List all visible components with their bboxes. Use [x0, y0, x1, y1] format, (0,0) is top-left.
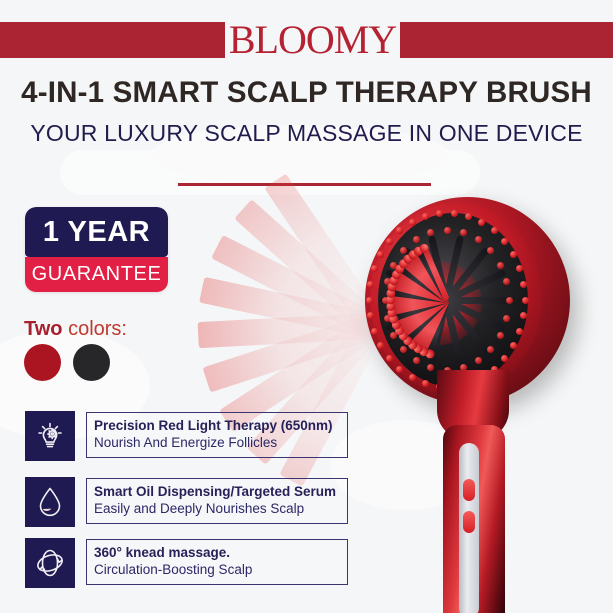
brush-bristle [389, 297, 447, 309]
brush-bead [478, 219, 485, 226]
brush-bead [377, 342, 384, 349]
brush-ridge [428, 235, 450, 301]
brush-bristle [390, 283, 448, 303]
bristle-tip [386, 301, 396, 311]
bristle-tip [387, 281, 398, 292]
brush-bead [465, 213, 472, 220]
brush-bead [520, 281, 527, 288]
bristle-tip [386, 288, 396, 298]
bristle-tip [397, 329, 410, 342]
brush-bristle [391, 297, 448, 322]
handle-button-upper[interactable] [463, 479, 475, 501]
brush-bead [503, 315, 510, 322]
brush-bristle [409, 298, 449, 348]
brush-ridge [443, 300, 465, 366]
brush-bead [522, 297, 529, 304]
brush-ridge [380, 297, 446, 304]
brush-bristle [390, 297, 448, 316]
brush-bead [506, 297, 513, 304]
brush-bead [386, 238, 393, 245]
brush-bristle [389, 296, 447, 303]
feature-row: Precision Red Light Therapy (650nm) Nour… [25, 411, 350, 463]
brush-bead [460, 229, 467, 236]
brush-ridge [443, 298, 490, 354]
brush-bead [427, 229, 434, 236]
brush-head-outer-rim [365, 197, 570, 404]
brush-bead [478, 374, 485, 381]
bristle-tip [386, 295, 395, 304]
brush-bead [390, 262, 397, 269]
brush-bead [497, 332, 504, 339]
brush-bead [436, 210, 443, 217]
brush-bristle [421, 246, 450, 302]
bristle-tip [407, 248, 420, 261]
colors-label-strong: Two [24, 318, 63, 340]
handle-control-panel [459, 443, 479, 613]
brush-bristle [393, 297, 448, 328]
feature-description: Circulation-Boosting Scalp [94, 561, 347, 579]
bristle-tip [424, 348, 435, 359]
brush-bead [465, 380, 472, 387]
bristle-tip [419, 242, 431, 254]
brush-ridge [443, 235, 465, 301]
brush-bead [451, 383, 458, 390]
feature-text-box: Smart Oil Dispensing/Targeted Serum Easi… [86, 478, 348, 524]
oil-droplet-icon [25, 477, 75, 527]
brush-ridge [402, 247, 449, 303]
feature-text-box: Precision Red Light Therapy (650nm) Nour… [86, 412, 348, 458]
brush-ridge [446, 297, 512, 304]
product-neck [437, 370, 509, 440]
brush-bead [491, 366, 498, 373]
brush-bristle [401, 260, 449, 302]
colors-label: Two colors: [24, 318, 127, 341]
brush-bead [520, 312, 527, 319]
brush-bead [497, 262, 504, 269]
brush-bead [384, 278, 391, 285]
brush-bristle [405, 256, 449, 302]
brush-bead [390, 332, 397, 339]
page-subtitle: YOUR LUXURY SCALP MASSAGE IN ONE DEVICE [0, 120, 613, 147]
color-swatches [24, 344, 110, 381]
brush-bristle [414, 298, 449, 351]
handle-button-lower[interactable] [463, 511, 475, 533]
brush-bristle [392, 277, 448, 303]
brush-bead [444, 227, 451, 234]
brush-bead [503, 278, 510, 285]
feature-description: Easily and Deeply Nourishes Scalp [94, 500, 347, 518]
bristle-tip [413, 245, 425, 257]
brush-bead [516, 328, 523, 335]
product-infographic: BLOOMY 4-IN-1 SMART SCALP THERAPY BRUSH … [0, 0, 613, 613]
brush-ridge [385, 297, 448, 332]
page-title: 4-IN-1 SMART SCALP THERAPY BRUSH [0, 76, 613, 110]
brush-bead [501, 355, 508, 362]
brush-bead [487, 247, 494, 254]
brush-bead [510, 342, 517, 349]
guarantee-badge-years: 1 YEAR [25, 207, 168, 257]
brush-bristle [400, 298, 449, 339]
bristle-tip [390, 319, 402, 331]
brush-bead [460, 364, 467, 371]
bristle-tip [388, 275, 400, 287]
brush-head-inner-rim [370, 203, 542, 395]
bristle-tip [386, 307, 397, 318]
brush-bead [382, 297, 389, 304]
guarantee-badge-label: GUARANTEE [25, 257, 168, 292]
bristle-tip [393, 324, 405, 336]
feature-title: Precision Red Light Therapy (650nm) [94, 417, 347, 434]
brush-bead [386, 355, 393, 362]
feature-row: Smart Oil Dispensing/Targeted Serum Easi… [25, 477, 350, 529]
bristle-tip [394, 262, 406, 274]
brush-bristle [394, 271, 448, 303]
red-light-ray [198, 313, 374, 348]
feature-row: 360° knead massage. Circulation-Boosting… [25, 538, 350, 590]
brush-head-face [378, 213, 528, 387]
brush-bead [371, 265, 378, 272]
brush-bead [366, 297, 373, 304]
feature-title: Smart Oil Dispensing/Targeted Serum [94, 483, 347, 500]
brush-bead [436, 383, 443, 390]
brush-ridge [443, 247, 490, 303]
brush-bristle [404, 298, 449, 344]
red-light-ray [211, 235, 379, 338]
color-swatch-black[interactable] [73, 344, 110, 381]
feature-text-box: 360° knead massage. Circulation-Boosting… [86, 539, 348, 585]
background-blob [60, 150, 480, 195]
brush-ridge [444, 297, 507, 332]
brush-bead [367, 312, 374, 319]
brush-bead [516, 265, 523, 272]
bristle-tip [418, 345, 430, 357]
brush-bead [377, 251, 384, 258]
brush-bead [487, 346, 494, 353]
brush-bead [451, 210, 458, 217]
brush-bead [409, 219, 416, 226]
brush-bead [422, 380, 429, 387]
brush-bead [427, 364, 434, 371]
brush-bristle [389, 290, 447, 303]
brush-bead [413, 357, 420, 364]
bristle-tip [391, 268, 403, 280]
brush-ridge [402, 298, 449, 354]
bristle-tip [406, 338, 419, 351]
brush-bead [409, 374, 416, 381]
feature-description: Nourish And Energize Follicles [94, 434, 347, 452]
brush-bristle [397, 265, 449, 302]
brush-bristle [410, 252, 449, 302]
brush-bead [400, 346, 407, 353]
rotation-360-icon [25, 538, 75, 588]
brush-ridge [444, 269, 507, 304]
brush-bristle [426, 299, 450, 356]
brush-bristle [420, 299, 450, 354]
header-band: BLOOMY [0, 22, 613, 58]
brush-bead [396, 366, 403, 373]
guarantee-badge: 1 YEAR GUARANTEE [25, 207, 168, 292]
color-swatch-red[interactable] [24, 344, 61, 381]
brush-bead [400, 247, 407, 254]
colors-label-rest: colors: [63, 318, 127, 340]
bristle-tip [412, 342, 424, 354]
bristle-tip [398, 257, 411, 270]
bristle-tip [402, 252, 415, 265]
header-bar-right [400, 22, 613, 58]
bristle-tip [401, 334, 414, 347]
red-light-ray [199, 277, 376, 339]
red-light-glow [396, 261, 482, 345]
brand-logo: BLOOMY [225, 19, 400, 61]
brush-bristle [396, 297, 448, 333]
brush-bead [444, 367, 451, 374]
brush-ridge [385, 269, 448, 304]
header-bar-left [0, 22, 225, 58]
product-handle [443, 425, 505, 613]
brush-bristle [415, 248, 449, 301]
title-divider [178, 183, 431, 186]
lightbulb-gear-icon [25, 411, 75, 461]
brush-bead [422, 213, 429, 220]
brush-ridge [428, 300, 450, 366]
brush-bead [501, 238, 508, 245]
brush-bead [475, 236, 482, 243]
brush-bead [396, 227, 403, 234]
bristle-tip [388, 313, 399, 324]
background-blob [330, 420, 480, 510]
brush-bead [475, 357, 482, 364]
brush-bead [367, 281, 374, 288]
brush-bead [413, 236, 420, 243]
feature-title: 360° knead massage. [94, 544, 347, 561]
red-light-ray [264, 174, 383, 334]
brush-bead [371, 328, 378, 335]
red-light-ray [203, 314, 377, 393]
brush-bead [384, 315, 391, 322]
brush-bead [491, 227, 498, 234]
red-light-ray [234, 199, 381, 335]
brush-bead [510, 251, 517, 258]
